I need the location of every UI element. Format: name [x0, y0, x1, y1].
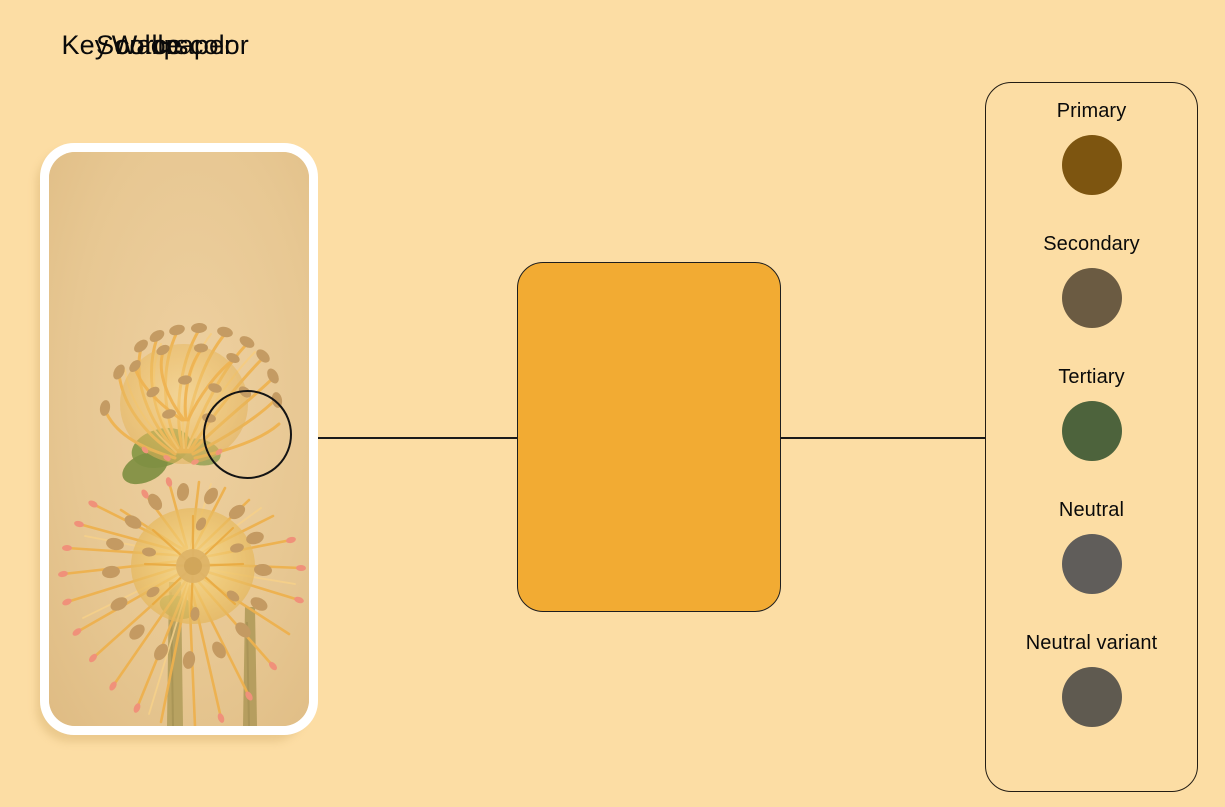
key-colors-card: Primary Secondary Tertiary Neutral Neutr…	[985, 82, 1198, 792]
key-color-dot	[1062, 135, 1122, 195]
key-color-label: Neutral	[1059, 500, 1124, 520]
key-color-label: Primary	[1057, 101, 1127, 121]
key-color-neutral-variant[interactable]: Neutral variant	[986, 633, 1197, 727]
key-color-dot	[1062, 268, 1122, 328]
key-color-dot	[1062, 401, 1122, 461]
key-color-primary[interactable]: Primary	[986, 101, 1197, 195]
key-color-dot	[1062, 534, 1122, 594]
key-color-label: Secondary	[1043, 234, 1140, 254]
wallpaper-to-source-connector-line	[292, 437, 518, 439]
diagram-stage: Wallpaper Source color Key colors	[0, 0, 1225, 807]
source-to-key-colors-connector-line	[780, 437, 985, 439]
key-color-label: Tertiary	[1058, 367, 1124, 387]
key-color-secondary[interactable]: Secondary	[986, 234, 1197, 328]
key-color-dot	[1062, 667, 1122, 727]
sample-point-circle	[203, 390, 292, 479]
key-color-neutral[interactable]: Neutral	[986, 500, 1197, 594]
key-color-tertiary[interactable]: Tertiary	[986, 367, 1197, 461]
key-color-label: Neutral variant	[1026, 633, 1158, 653]
heading-key-colors: Key colors	[0, 30, 250, 61]
source-color-swatch[interactable]	[517, 262, 781, 612]
